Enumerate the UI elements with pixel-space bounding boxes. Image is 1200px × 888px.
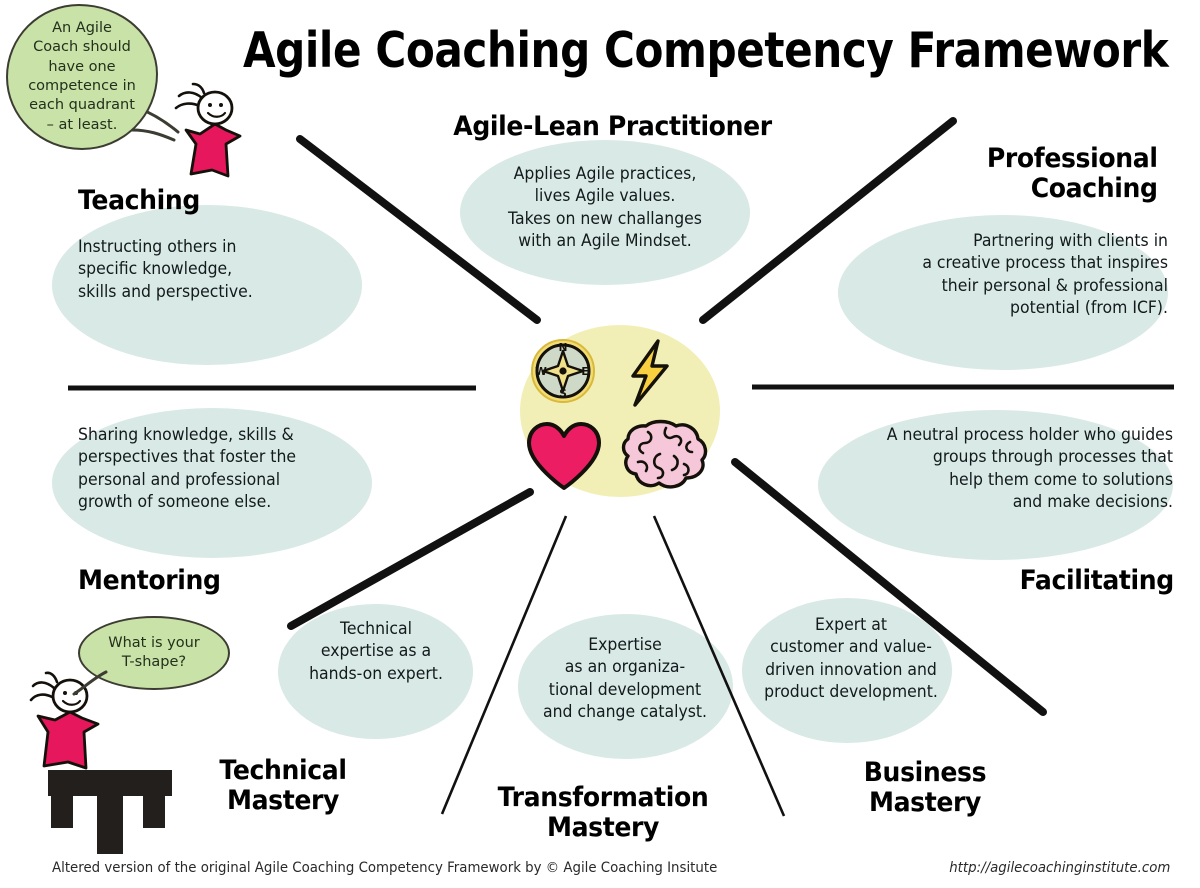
body-professional-coaching: Partnering with clients in a creative pr…	[845, 230, 1168, 320]
top-speech-bubble: An Agile Coach should have one competenc…	[6, 4, 158, 150]
body-agile-lean-practitioner: Applies Agile practices, lives Agile val…	[463, 163, 748, 253]
heading-professional-coaching: Professional Coaching	[987, 144, 1158, 204]
top-speech-bubble-text: An Agile Coach should have one competenc…	[28, 19, 136, 135]
body-technical-mastery: Technical expertise as a hands-on expert…	[273, 618, 478, 685]
bottom-speech-bubble-text: What is your T-shape?	[108, 634, 200, 673]
svg-text:W: W	[535, 366, 547, 378]
heading-business-mastery: Business Mastery	[809, 758, 1042, 818]
heading-technical-mastery: Technical Mastery	[197, 756, 370, 816]
body-teaching: Instructing others in specific knowledge…	[78, 236, 363, 303]
svg-text:N: N	[559, 342, 568, 354]
footer-credit: Altered version of the original Agile Co…	[52, 860, 717, 876]
svg-text:S: S	[559, 388, 567, 400]
framework-diagram: N E S W	[0, 0, 1200, 888]
heading-facilitating: Facilitating	[1020, 566, 1174, 596]
bottom-speech-bubble-tail	[62, 668, 110, 704]
body-facilitating: A neutral process holder who guides grou…	[828, 424, 1173, 514]
heading-mentoring: Mentoring	[78, 566, 221, 596]
body-mentoring: Sharing knowledge, skills & perspectives…	[78, 424, 392, 514]
heading-agile-lean-practitioner: Agile-Lean Practitioner	[447, 112, 777, 142]
lightning-bolt-icon	[622, 338, 678, 408]
heart-icon	[523, 420, 605, 492]
compass-icon: N E S W	[530, 338, 596, 404]
page-title: Agile Coaching Competency Framework	[243, 22, 1017, 79]
body-business-mastery: Expert at customer and value- driven inn…	[744, 614, 959, 704]
svg-text:E: E	[581, 366, 588, 378]
coach-figure-top	[160, 82, 252, 192]
brain-icon	[618, 418, 712, 494]
footer-url[interactable]: http://agilecoachinginstitute.com	[949, 860, 1170, 876]
heading-transformation-mastery: Transformation Mastery	[477, 783, 728, 843]
body-transformation-mastery: Expertise as an organiza- tional develop…	[514, 634, 736, 724]
